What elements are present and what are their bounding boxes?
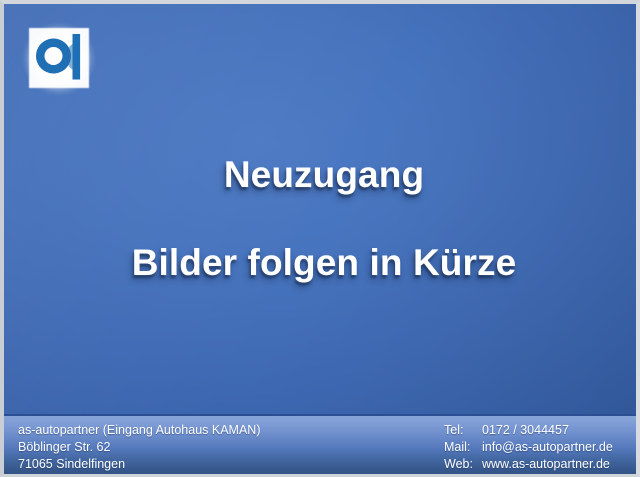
footer-web-row: Web: www.as-autopartner.de	[444, 456, 613, 473]
footer-web-value[interactable]: www.as-autopartner.de	[482, 456, 610, 473]
footer-company-name: as-autopartner (Eingang Autohaus KAMAN)	[18, 422, 261, 439]
footer-contact-bar: as-autopartner (Eingang Autohaus KAMAN) …	[4, 414, 636, 474]
footer-street: Böblinger Str. 62	[18, 439, 261, 456]
headline-block: Neuzugang Bilder folgen in Kürze	[4, 152, 640, 286]
footer-contact-block: Tel: 0172 / 3044457 Mail: info@as-autopa…	[444, 422, 613, 473]
footer-mail-value[interactable]: info@as-autopartner.de	[482, 439, 613, 456]
footer-city: 71065 Sindelfingen	[18, 456, 261, 473]
logo-letter-a-icon	[22, 22, 96, 96]
as-autopartner-logo	[22, 22, 96, 96]
headline-primary: Neuzugang	[4, 152, 640, 198]
footer-web-label: Web:	[444, 456, 482, 473]
footer-tel-row: Tel: 0172 / 3044457	[444, 422, 613, 439]
placeholder-slide: Neuzugang Bilder folgen in Kürze as-auto…	[0, 0, 640, 477]
footer-tel-label: Tel:	[444, 422, 482, 439]
footer-address-block: as-autopartner (Eingang Autohaus KAMAN) …	[18, 422, 261, 473]
footer-mail-label: Mail:	[444, 439, 482, 456]
footer-mail-row: Mail: info@as-autopartner.de	[444, 439, 613, 456]
footer-tel-value: 0172 / 3044457	[482, 422, 569, 439]
headline-secondary: Bilder folgen in Kürze	[4, 240, 640, 286]
